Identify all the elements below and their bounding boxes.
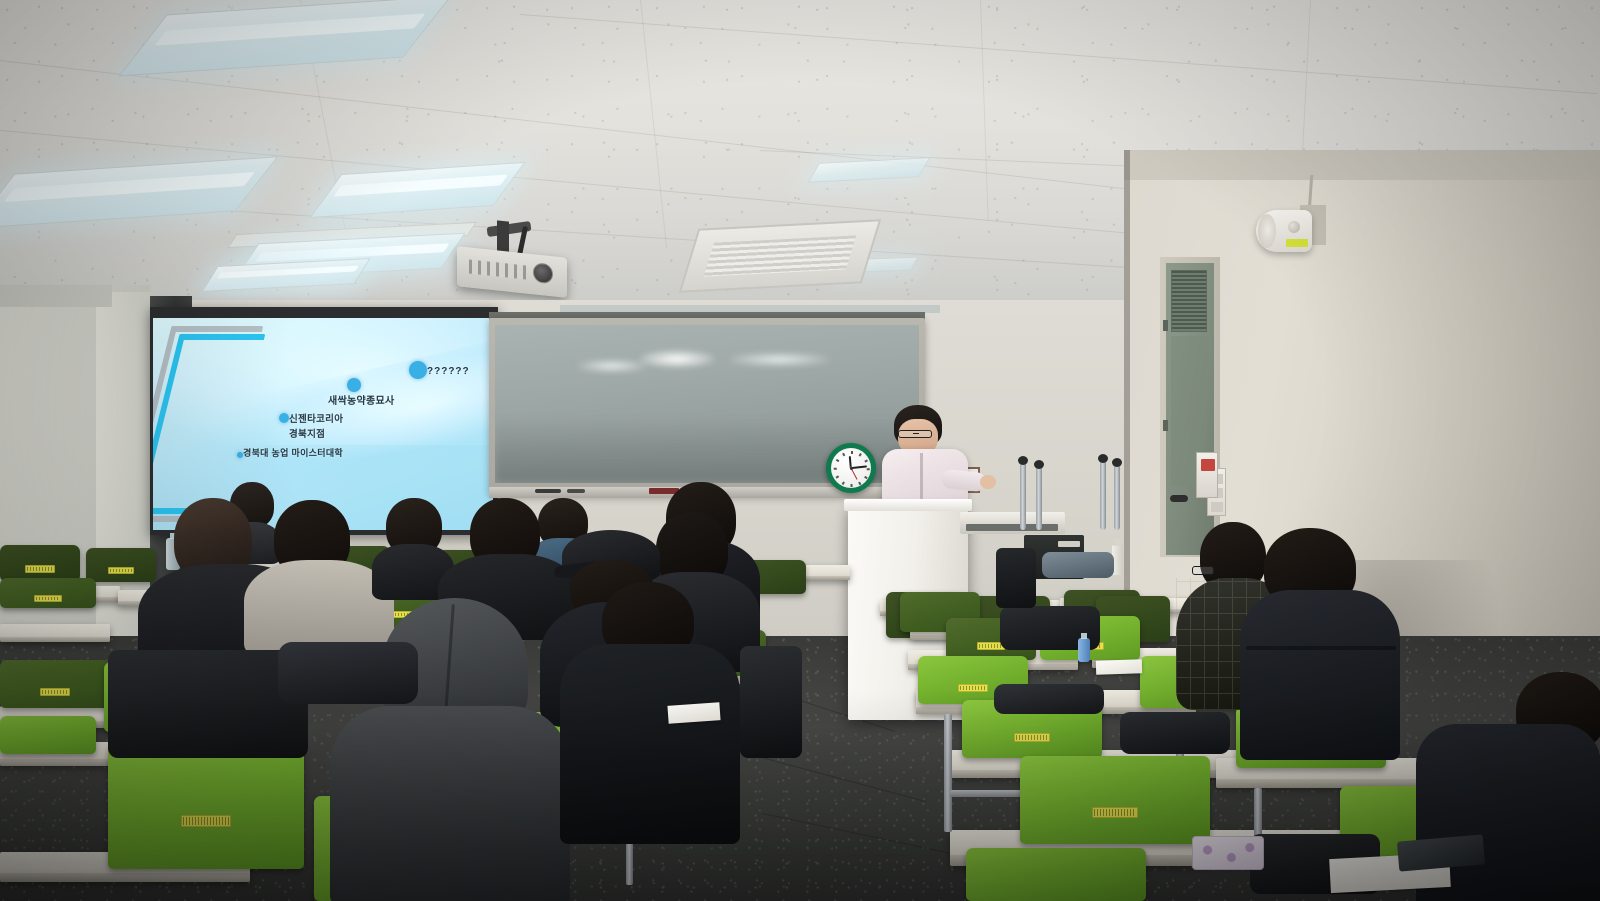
glasses-icon (1192, 566, 1214, 575)
desk-leg (944, 714, 952, 832)
jacket-on-chair (1120, 712, 1230, 754)
hoodie-body (330, 706, 570, 901)
student-jacket (560, 644, 740, 844)
av-equipment-desk (960, 512, 1065, 534)
papers (667, 702, 720, 724)
whiteboard-reflection (576, 360, 648, 373)
student (1240, 528, 1400, 758)
papers (1096, 659, 1142, 675)
projector-ports (469, 259, 527, 279)
chair[interactable] (0, 660, 110, 708)
slide-milestone-dot-2 (279, 413, 289, 423)
chair[interactable] (1020, 756, 1210, 844)
presenter-hand (980, 475, 996, 489)
slide-milestone-label-5: ?????? (427, 366, 470, 377)
door-handle[interactable] (1170, 495, 1188, 502)
wall-clock (826, 443, 876, 493)
slide-milestone-label-4: 새싹농약종묘사 (328, 392, 395, 407)
clock-center-pin (850, 467, 853, 470)
wall-speaker (1256, 210, 1312, 252)
door-louver-vent (1171, 270, 1207, 332)
hvac-vent (679, 219, 881, 292)
chair[interactable] (108, 744, 304, 869)
door-hinge (1163, 320, 1168, 331)
slide-milestone-dot-5 (409, 361, 427, 379)
folded-table-leg (1036, 466, 1042, 530)
slide-milestone-label-3: 경북지점 (289, 426, 325, 440)
chair[interactable] (0, 716, 96, 754)
slide-milestone-label-2: 신젠타코리아 (289, 411, 343, 425)
chair[interactable] (0, 578, 96, 608)
slide-milestone-dot-4 (347, 378, 361, 392)
right-wall-soffit (1124, 150, 1600, 180)
folded-table-leg (1020, 462, 1026, 530)
jacket-draped (1042, 552, 1114, 578)
desk (0, 624, 110, 642)
backpack (740, 646, 802, 758)
water-bottle (1078, 638, 1090, 662)
student-puffer-jacket (1240, 590, 1400, 760)
jacket-draped (996, 548, 1036, 608)
chair[interactable] (0, 545, 80, 581)
jacket-on-chair (994, 684, 1104, 714)
folded-table-leg (1100, 460, 1106, 530)
left-wall-header (0, 285, 112, 307)
whiteboard-reflection (728, 353, 830, 366)
speaker-label (1286, 239, 1308, 247)
slide-milestone-label-1: 경북대 농업 마이스터대학 (243, 446, 343, 459)
speaker-knob (1288, 221, 1300, 233)
emergency-box (1196, 452, 1218, 498)
folded-table-leg (1114, 464, 1120, 530)
jacket-on-chair (278, 642, 418, 704)
speaker-cone-icon (1258, 214, 1276, 248)
door-hinge (1163, 420, 1168, 431)
chair[interactable] (966, 848, 1146, 901)
whiteboard-reflection (639, 350, 715, 367)
puffer-seam (1246, 646, 1396, 650)
marker (535, 489, 561, 493)
projector-lens-icon (533, 262, 553, 284)
glasses-icon (898, 430, 932, 438)
classroom-photo: 경북대 농업 마이스터대학 신젠타코리아 경북지점 새싹농약종묘사 ?????? (0, 0, 1600, 901)
tote-bag-pattern (1194, 838, 1262, 868)
marker (567, 489, 585, 493)
clock-face (831, 448, 871, 488)
